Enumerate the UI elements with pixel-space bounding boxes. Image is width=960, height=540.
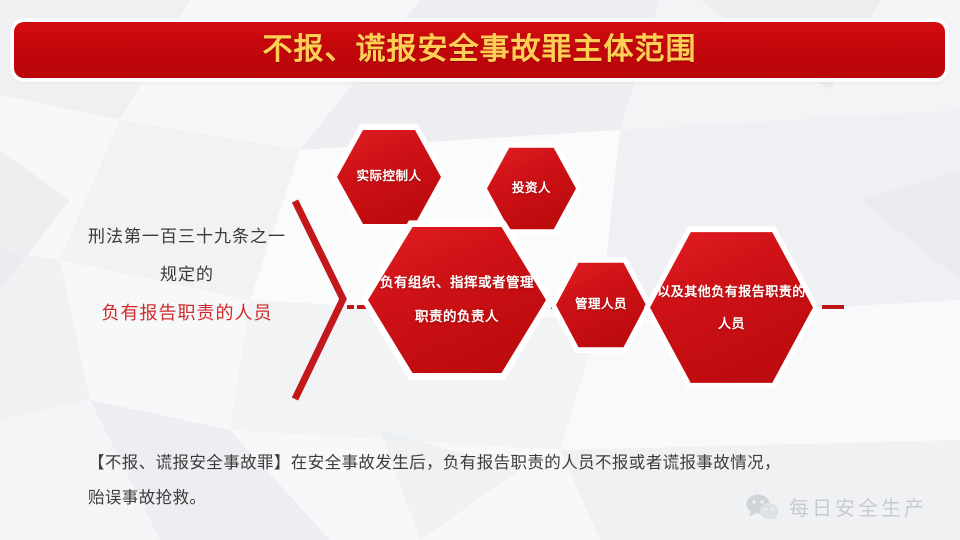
hexagon-label: 负有组织、指挥或者管理职责的负责人 [368, 266, 546, 334]
left-line-1: 刑法第一百三十九条之一 [72, 218, 302, 256]
hexagon-label: 管理人员 [569, 294, 633, 316]
connector-dash [347, 305, 354, 309]
left-line-2: 规定的 [72, 256, 302, 294]
watermark-text: 每日安全生产 [789, 492, 927, 521]
hexagon-label: 实际控制人 [350, 166, 427, 188]
watermark: 每日安全生产 [746, 492, 927, 521]
left-description-block: 刑法第一百三十九条之一 规定的 负有报告职责的人员 [72, 218, 302, 332]
connector-dash [822, 305, 844, 309]
left-accent-line: 负有报告职责的人员 [72, 294, 302, 332]
hexagon-label: 投资人 [506, 178, 557, 200]
bottom-line-1: 【不报、谎报安全事故罪】在安全事故发生后，负有报告职责的人员不报或者谎报事故情况… [88, 446, 888, 481]
title-banner: 不报、谎报安全事故罪主体范围 [14, 22, 945, 78]
chevron-right-icon [285, 195, 355, 405]
page-title: 不报、谎报安全事故罪主体范围 [263, 35, 697, 65]
hexagon-label: 以及其他负有报告职责的人员 [650, 276, 813, 338]
slide-canvas: 不报、谎报安全事故罪主体范围 刑法第一百三十九条之一 规定的 负有报告职责的人员… [0, 0, 960, 540]
wechat-icon [746, 493, 780, 521]
